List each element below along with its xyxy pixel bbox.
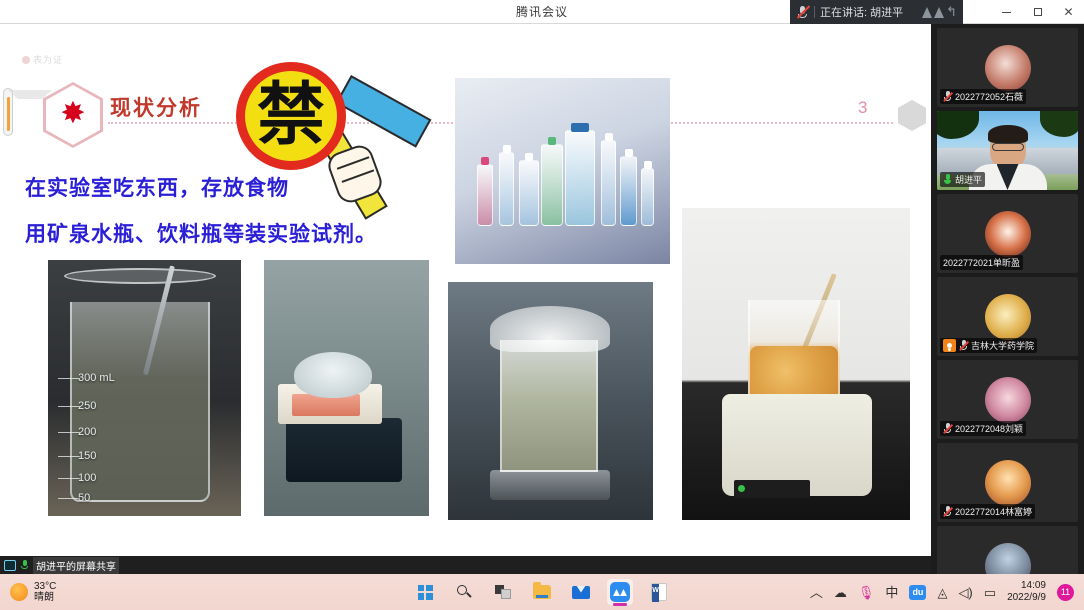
slide-left-slider-handle[interactable] — [3, 88, 13, 136]
divider — [814, 6, 815, 18]
avatar — [985, 377, 1031, 423]
microphone-muted-icon — [943, 423, 952, 434]
windows-taskbar: 33°C 晴朗 — [0, 574, 1084, 610]
microphone-muted-icon — [943, 506, 952, 517]
heating-mantle-control-panel — [734, 480, 810, 498]
avatar — [985, 45, 1031, 91]
photo-beaker-with-residue: 300 mL 250 200 150 100 50 — [48, 260, 241, 516]
host-badge-icon — [943, 339, 956, 352]
show-hidden-icons-chevron-icon[interactable]: ︿ — [810, 586, 823, 599]
participant-tile[interactable]: 2022772052石薇 — [937, 28, 1078, 107]
participant-name-bar: 2022772014林富婷 — [940, 504, 1035, 519]
task-view-icon — [495, 585, 511, 599]
screen-share-banner: 胡进平的屏幕共享 — [0, 556, 931, 574]
microphone-on-icon — [20, 560, 29, 571]
slide-section-title: 现状分析 — [110, 92, 202, 122]
photo-hotplate-with-dish — [264, 260, 429, 516]
participant-name-bar: 2022772021单昕盈 — [940, 255, 1023, 270]
weather-condition: 晴朗 — [34, 592, 56, 604]
avatar — [985, 294, 1031, 340]
participant-tile[interactable]: 2022772021单昕盈 — [937, 194, 1078, 273]
clock[interactable]: 14:09 2022/9/9 — [1007, 580, 1046, 604]
microphone-muted-icon — [943, 91, 952, 102]
beaker-tick: 250 — [78, 400, 96, 412]
participant-name-bar: 2022772048刘颖 — [940, 421, 1026, 436]
photo-beaker-with-plastic-wrap — [448, 282, 653, 520]
tencent-meeting-button[interactable] — [607, 579, 633, 605]
participant-name-bar: 2022772052石薇 — [940, 89, 1026, 104]
beaker-tick: 300 mL — [78, 372, 115, 384]
participant-tile[interactable]: 胡进平 — [937, 111, 1078, 190]
clock-date: 2022/9/9 — [1007, 592, 1046, 604]
participant-tile[interactable]: 吉林大学药学院 — [937, 277, 1078, 356]
beaker-tick: 50 — [78, 492, 90, 504]
photo-instant-noodles-in-beaker — [682, 208, 910, 520]
active-speaker-label: 正在讲话: 胡进平 — [820, 4, 903, 20]
search-icon — [457, 585, 472, 600]
screen-share-label: 胡进平的屏幕共享 — [33, 557, 119, 574]
maximize-button[interactable] — [1022, 0, 1053, 24]
participant-name: 胡进平 — [955, 173, 982, 186]
plastic-wrap-cover — [490, 306, 610, 352]
sign-handle — [335, 75, 431, 148]
file-explorer-button[interactable] — [529, 579, 555, 605]
microphone-muted-icon — [959, 340, 968, 351]
mail-icon — [572, 586, 590, 599]
participant-tile[interactable]: 2022772014林富婷 — [937, 443, 1078, 522]
prohibition-sign-icon: 禁 — [236, 62, 346, 170]
beaker — [500, 340, 598, 472]
wifi-icon[interactable]: ◬ — [937, 586, 947, 599]
prohibition-illustration: 禁 — [236, 62, 436, 230]
gear-icon: ✸ — [56, 97, 90, 131]
participant-rail[interactable]: 2022772052石薇 胡进平 2022772021单昕盈 — [931, 24, 1084, 586]
participant-name: 2022772021单昕盈 — [943, 256, 1020, 269]
microphone-tray-icon[interactable]: 🎙 — [858, 586, 875, 599]
active-app-indicator — [613, 603, 627, 606]
beaker-tick: 150 — [78, 450, 96, 462]
beaker-tick: 200 — [78, 426, 96, 438]
word-icon: W — [651, 583, 667, 601]
sun-icon — [10, 583, 28, 601]
weather-temperature: 33°C — [34, 581, 56, 593]
participant-name: 2022772048刘颖 — [955, 422, 1023, 435]
presentation-slide: 表为证 ✸ 现状分析 3 禁 — [0, 30, 925, 550]
slide-bullet-1: 在实验室吃东西，存放食物 — [25, 172, 289, 202]
participant-name: 2022772014林富婷 — [955, 505, 1032, 518]
battery-icon[interactable]: ▭ — [984, 586, 996, 599]
audio-wave-icon: ↰ — [922, 7, 957, 18]
power-led-icon — [738, 485, 745, 492]
tencent-meeting-icon — [610, 582, 630, 602]
active-speaker-indicator: 正在讲话: 胡进平 ↰ — [790, 0, 963, 24]
folder-icon — [533, 585, 551, 599]
hotplate-base — [286, 418, 402, 482]
window-controls: ✕ — [991, 0, 1084, 24]
windows-logo-icon — [418, 585, 433, 600]
participant-name: 2022772052石薇 — [955, 90, 1023, 103]
system-tray: ︿ ☁ 🎙 中 du ◬ ◁) ▭ 14:09 2022/9/9 11 — [810, 574, 1084, 610]
baidu-input-icon[interactable]: du — [909, 585, 926, 600]
watermark-dot-icon — [22, 56, 30, 64]
corner-hexagon-icon — [898, 100, 926, 131]
close-button[interactable]: ✕ — [1053, 0, 1084, 24]
slide-watermark: 表为证 — [22, 53, 63, 66]
app-root: 腾讯会议 正在讲话: 胡进平 ↰ ✕ 表为证 — [0, 0, 1084, 610]
notification-badge[interactable]: 11 — [1057, 584, 1074, 601]
shared-screen-area[interactable]: 表为证 ✸ 现状分析 3 禁 — [0, 24, 931, 556]
watermark-text: 表为证 — [33, 53, 63, 66]
participant-tile[interactable]: 2022772048刘颖 — [937, 360, 1078, 439]
word-glyph: W — [652, 587, 659, 594]
clock-time: 14:09 — [1021, 580, 1046, 592]
start-button[interactable] — [412, 579, 438, 605]
prohibition-sign-text: 禁 — [245, 71, 337, 161]
ime-keyboard-icon[interactable]: 中 — [885, 586, 898, 599]
avatar — [985, 460, 1031, 506]
mail-button[interactable] — [568, 579, 594, 605]
participant-name-bar: 吉林大学药学院 — [940, 338, 1037, 353]
volume-icon[interactable]: ◁) — [958, 586, 972, 599]
microphone-on-icon — [943, 174, 952, 185]
minimize-button[interactable] — [991, 0, 1022, 24]
evaporating-dish — [294, 352, 372, 398]
slider-fill — [7, 97, 10, 131]
microphone-muted-icon — [796, 5, 809, 19]
avatar — [985, 211, 1031, 257]
photo-plastic-bottles — [455, 78, 670, 264]
window-title-bar: 腾讯会议 正在讲话: 胡进平 ↰ ✕ — [0, 0, 1084, 24]
task-view-button[interactable] — [490, 579, 516, 605]
cloud-sync-icon[interactable]: ☁ — [834, 586, 847, 599]
beaker-tick: 100 — [78, 472, 96, 484]
glasses-icon — [992, 143, 1024, 151]
participant-name-bar: 胡进平 — [940, 172, 985, 187]
weather-widget[interactable]: 33°C 晴朗 — [0, 581, 170, 604]
word-button[interactable]: W — [646, 579, 672, 605]
slide-page-number: 3 — [858, 98, 867, 118]
search-button[interactable] — [451, 579, 477, 605]
beaker-rim — [64, 268, 216, 284]
screen-share-icon — [4, 560, 16, 571]
participant-name: 吉林大学药学院 — [971, 339, 1034, 352]
hexagon-badge-icon: ✸ — [43, 82, 103, 148]
stand-base — [490, 470, 610, 500]
slide-bullet-2: 用矿泉水瓶、饮料瓶等装实验试剂。 — [25, 218, 377, 248]
